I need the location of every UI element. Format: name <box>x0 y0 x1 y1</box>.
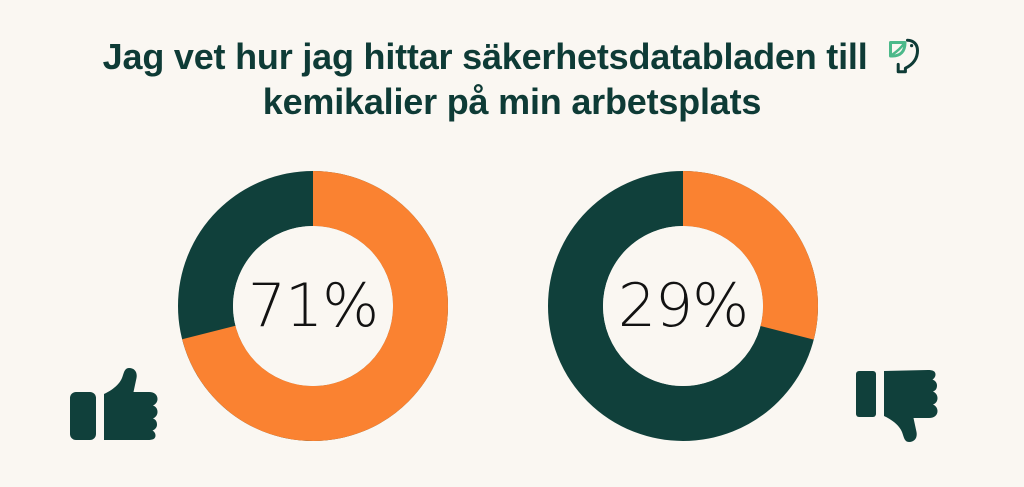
title-line-2: kemikalier på min arbetsplats <box>0 79 1024 124</box>
infographic-canvas: Jag vet hur jag hittar säkerhetsdatablad… <box>0 0 1024 487</box>
disagree-donut-chart: 29% <box>548 171 818 441</box>
title-line-1: Jag vet hur jag hittar säkerhetsdatablad… <box>0 34 1024 79</box>
agree-donut-chart: 71% <box>178 171 448 441</box>
thumbs-down-icon <box>856 366 948 446</box>
bird-leaf-logo-icon <box>887 37 921 75</box>
agree-donut-hole <box>233 226 393 386</box>
page-title: Jag vet hur jag hittar säkerhetsdatablad… <box>0 34 1024 124</box>
disagree-donut-hole <box>603 226 763 386</box>
title-text-line-1: Jag vet hur jag hittar säkerhetsdatablad… <box>103 36 868 77</box>
agree-donut-svg <box>178 171 448 441</box>
disagree-donut-svg <box>548 171 818 441</box>
thumbs-up-icon <box>70 366 162 446</box>
